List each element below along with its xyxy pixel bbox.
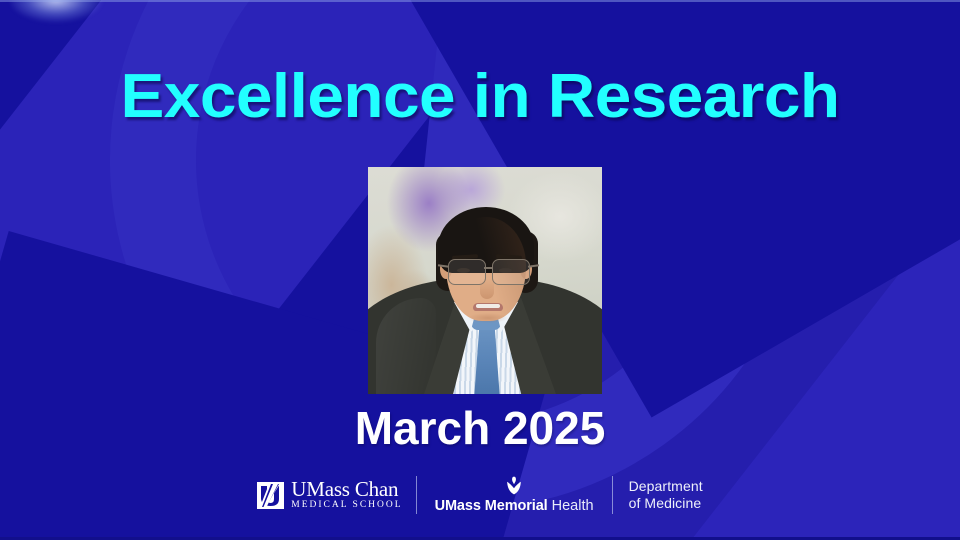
portrait-photo: [368, 167, 602, 394]
umass-memorial-name-bold: UMass Memorial: [435, 498, 548, 514]
department-of-medicine-logo: Department of Medicine: [613, 478, 703, 512]
glasses-temple-left: [438, 264, 449, 267]
glasses-bridge: [484, 267, 492, 269]
logo-bar: UMass Chan MEDICAL SCHOOL UMass Memorial…: [0, 476, 960, 514]
umass-chan-name: UMass Chan: [291, 479, 402, 499]
portrait-nose: [480, 279, 494, 299]
department-line-1: Department: [629, 478, 703, 495]
department-line-2: of Medicine: [629, 495, 702, 512]
top-edge-line: [0, 0, 960, 2]
umass-memorial-name-light: Health: [548, 498, 594, 514]
portrait-teeth: [476, 304, 500, 308]
glasses-temple-right: [528, 264, 539, 267]
portrait-chin-shading: [468, 313, 508, 323]
umass-chan-logo: UMass Chan MEDICAL SCHOOL: [257, 479, 415, 511]
umass-memorial-tulip-icon: [503, 476, 525, 496]
slide-date: March 2025: [0, 405, 960, 451]
slide-title: Excellence in Research: [0, 66, 960, 128]
umass-chan-emblem-icon: [257, 482, 284, 509]
umass-chan-wordmark: UMass Chan MEDICAL SCHOOL: [291, 479, 402, 511]
umass-chan-subtitle: MEDICAL SCHOOL: [291, 499, 402, 511]
glasses-lens-right: [492, 259, 530, 285]
presentation-slide: Excellence in Research: [0, 0, 960, 540]
umass-memorial-logo: UMass Memorial Health: [417, 476, 612, 514]
umass-memorial-wordmark: UMass Memorial Health: [435, 498, 594, 514]
